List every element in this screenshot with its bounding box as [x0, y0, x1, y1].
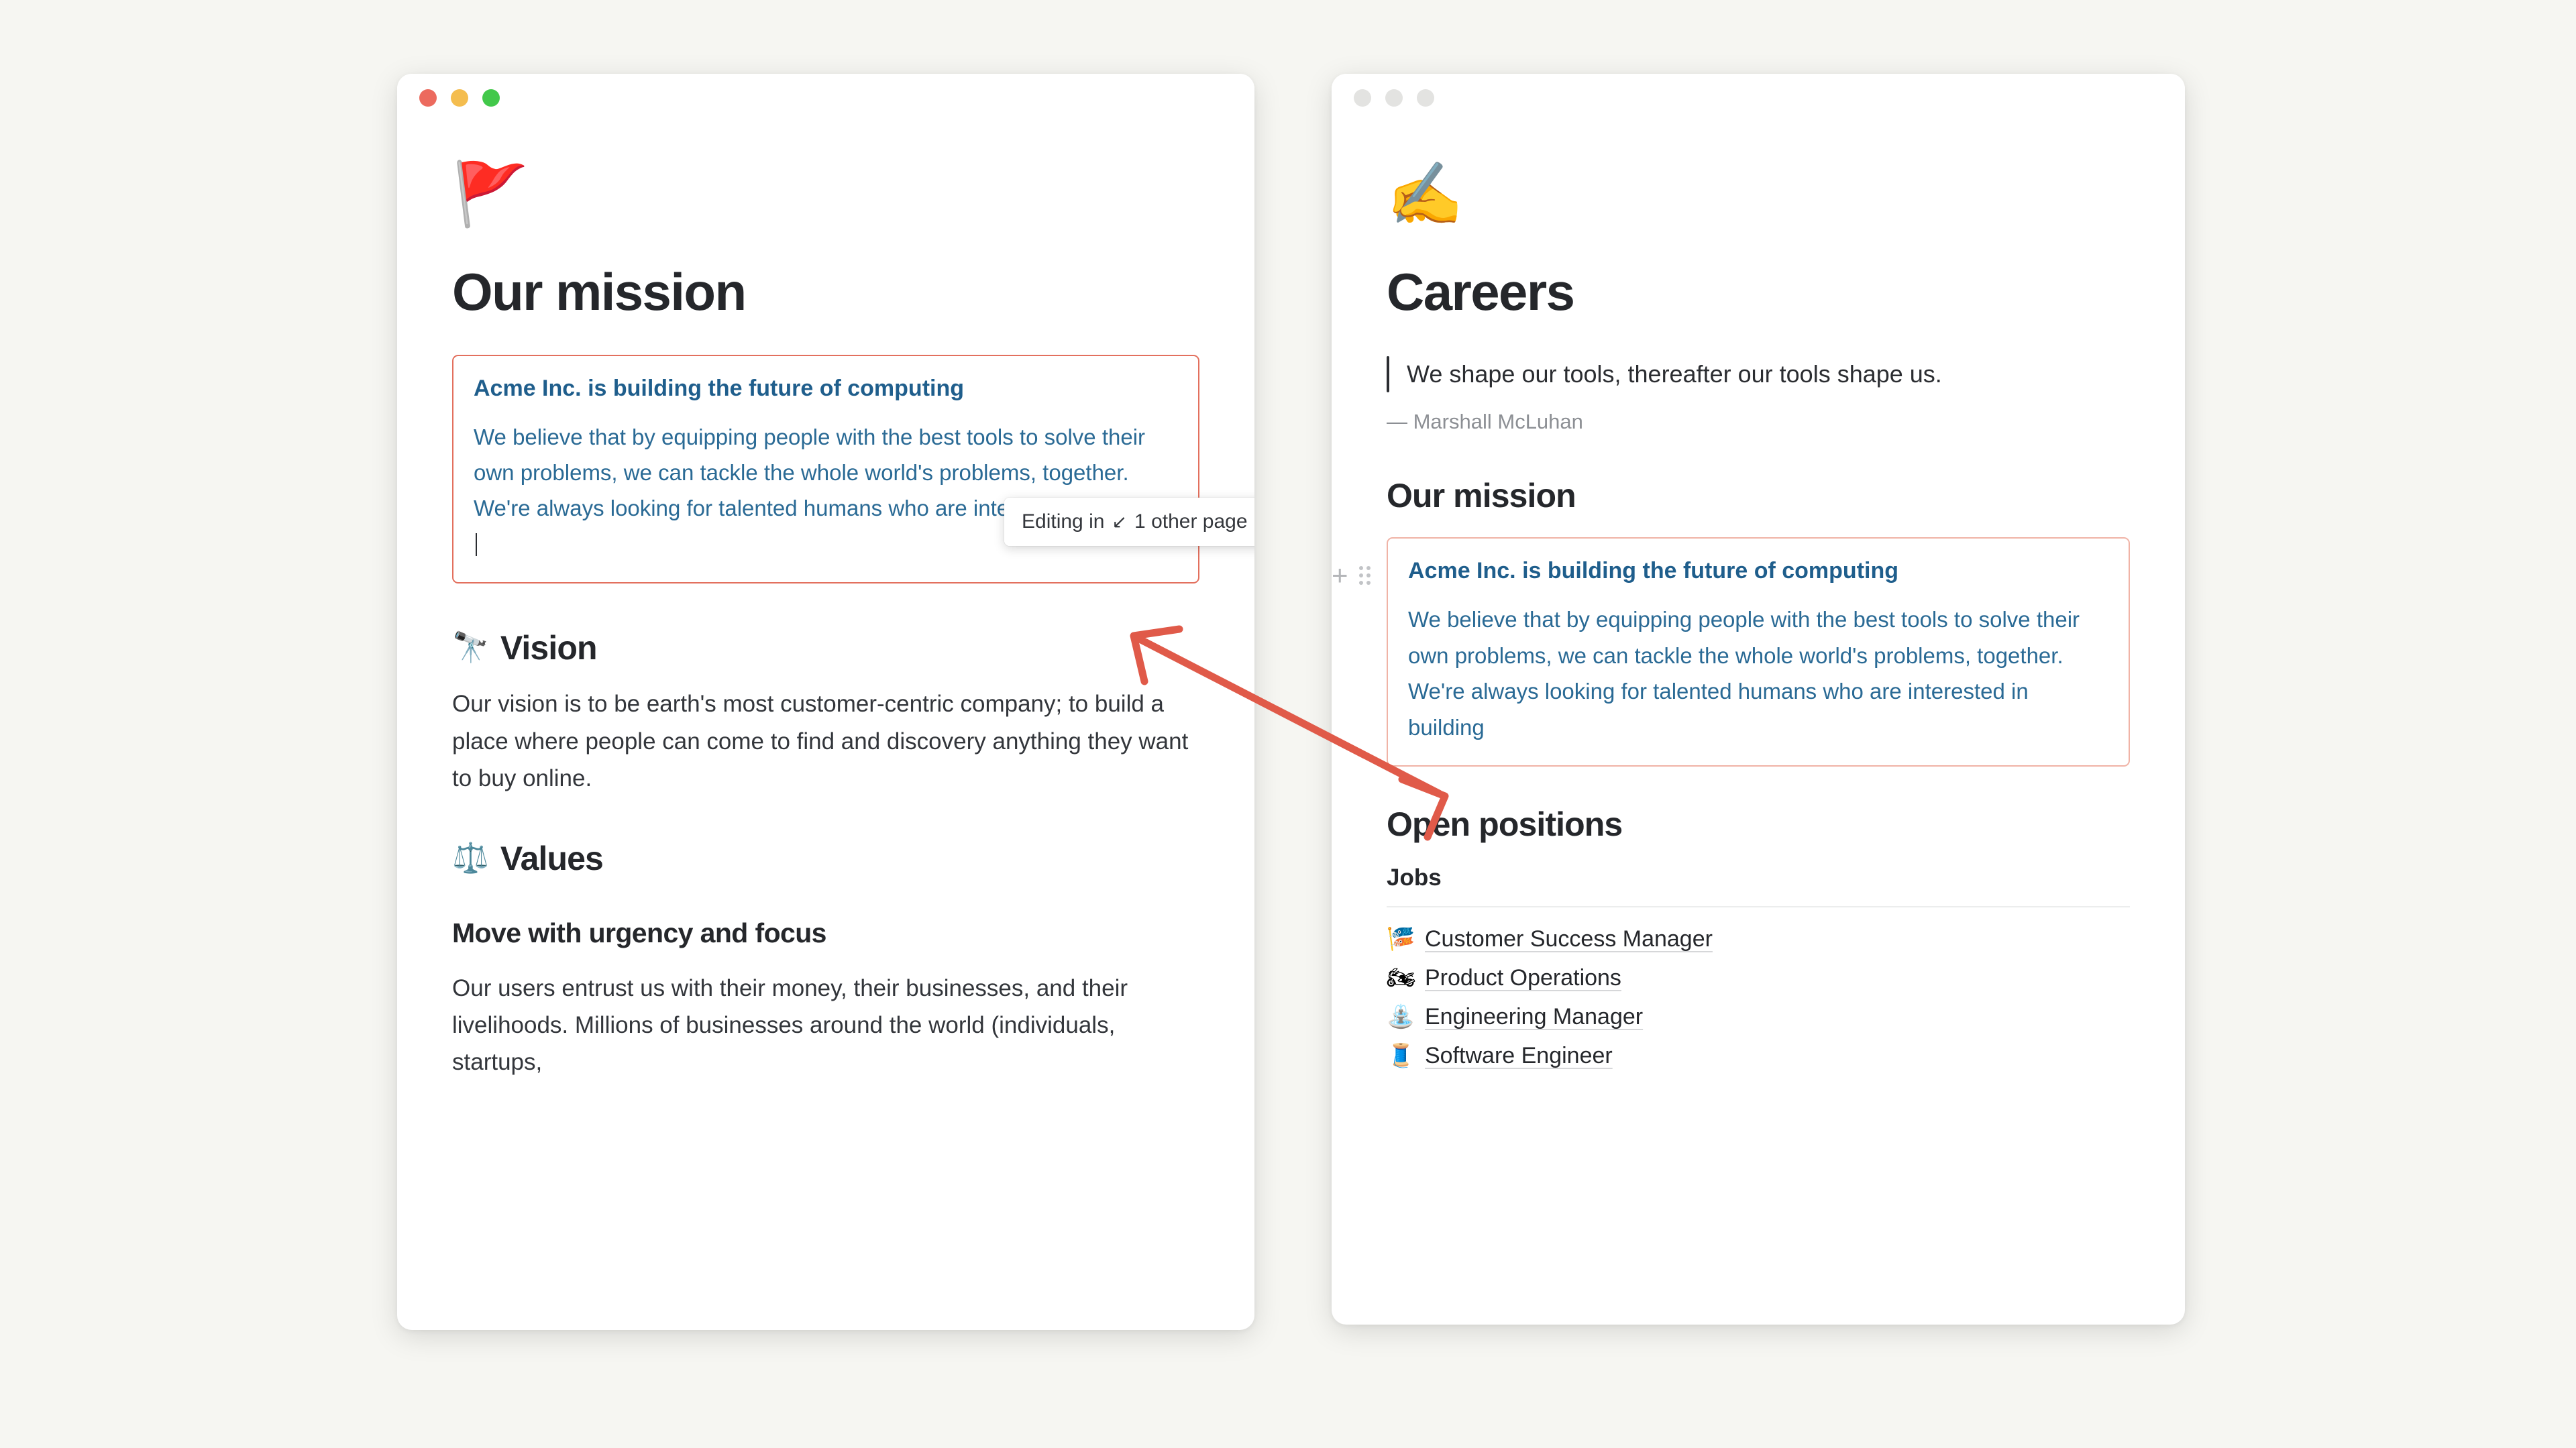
jobs-label: Jobs	[1387, 865, 2130, 891]
close-button[interactable]	[1354, 89, 1371, 107]
titlebar-right[interactable]	[1332, 74, 2185, 122]
block-handles[interactable]: +	[1332, 561, 1371, 590]
motorcycle-emoji: 🏍	[1387, 964, 1413, 991]
job-link[interactable]: Engineering Manager	[1425, 1004, 1643, 1030]
value-heading: Move with urgency and focus	[452, 916, 1199, 950]
list-item[interactable]: 🏍 Product Operations	[1387, 958, 2130, 997]
editing-in-label: Editing in	[1022, 510, 1104, 533]
quote-attribution: — Marshall McLuhan	[1387, 410, 2130, 434]
list-item[interactable]: ⛲ Engineering Manager	[1387, 997, 2130, 1036]
annotation-arrow	[0, 0, 2576, 1448]
blockquote: We shape our tools, thereafter our tools…	[1387, 356, 2130, 393]
document-left: 🚩 Our mission Acme Inc. is building the …	[397, 164, 1254, 1080]
list-item[interactable]: 🧵 Software Engineer	[1387, 1036, 2130, 1075]
section-label-vision: Vision	[500, 628, 597, 668]
section-heading-open-positions: Open positions	[1387, 804, 2130, 844]
section-heading-values: ⚖️ Values	[452, 838, 1199, 879]
section-heading-our-mission: Our mission	[1387, 476, 2130, 516]
section-label-our-mission: Our mission	[1387, 476, 1576, 516]
job-link[interactable]: Product Operations	[1425, 965, 1621, 991]
minimize-button[interactable]	[1385, 89, 1403, 107]
document-right: ✍️ Careers We shape our tools, thereafte…	[1332, 164, 2185, 1075]
page-title: Careers	[1387, 264, 2130, 320]
minimize-button[interactable]	[451, 89, 468, 107]
telescope-emoji: 🔭	[452, 630, 488, 666]
window-careers[interactable]: ✍️ Careers We shape our tools, thereafte…	[1332, 74, 2185, 1325]
section-label-values: Values	[500, 838, 603, 879]
window-our-mission[interactable]: 🚩 Our mission Acme Inc. is building the …	[397, 74, 1254, 1330]
synced-block-heading: Acme Inc. is building the future of comp…	[1408, 556, 2108, 587]
synced-block-body[interactable]: We believe that by equipping people with…	[1408, 602, 2108, 745]
zoom-button[interactable]	[1417, 89, 1434, 107]
fountain-emoji: ⛲	[1387, 1003, 1413, 1030]
synced-block-toolbar[interactable]: Editing in ↙ 1 other page ⌄ Copy and syn…	[1004, 498, 1254, 546]
synced-block-heading: Acme Inc. is building the future of comp…	[474, 374, 1178, 404]
close-button[interactable]	[419, 89, 437, 107]
triangular-flag-emoji: 🚩	[452, 164, 1199, 225]
zoom-button[interactable]	[482, 89, 500, 107]
value-body: Our users entrust us with their money, t…	[452, 970, 1199, 1081]
jobs-divider	[1387, 906, 2130, 907]
carp-streamer-emoji: 🎏	[1387, 926, 1413, 952]
editing-in-dropdown[interactable]: Editing in ↙ 1 other page ⌄	[1004, 498, 1254, 546]
add-block-icon[interactable]: +	[1332, 561, 1348, 590]
text-caret	[476, 533, 477, 556]
list-item[interactable]: 🎏 Customer Success Manager	[1387, 920, 2130, 958]
titlebar-left[interactable]	[397, 74, 1254, 122]
balance-scale-emoji: ⚖️	[452, 841, 488, 877]
other-page-count-label: 1 other page	[1134, 510, 1247, 533]
quote-text: We shape our tools, thereafter our tools…	[1407, 356, 1942, 393]
drag-handle-icon[interactable]	[1359, 566, 1371, 585]
page-title: Our mission	[452, 264, 1199, 320]
writing-hand-emoji: ✍️	[1387, 164, 2130, 225]
job-link[interactable]: Customer Success Manager	[1425, 926, 1713, 952]
thread-spool-emoji: 🧵	[1387, 1042, 1413, 1069]
section-heading-vision: 🔭 Vision	[452, 628, 1199, 668]
page-link-icon: ↙	[1112, 512, 1127, 533]
section-body-vision: Our vision is to be earth's most custome…	[452, 685, 1199, 797]
synced-block-right[interactable]: + Acme Inc. is building the future of co…	[1387, 537, 2130, 767]
job-link[interactable]: Software Engineer	[1425, 1043, 1613, 1069]
synced-block-left[interactable]: Acme Inc. is building the future of comp…	[452, 355, 1199, 584]
section-label-open-positions: Open positions	[1387, 804, 1622, 844]
quote-bar	[1387, 356, 1389, 393]
